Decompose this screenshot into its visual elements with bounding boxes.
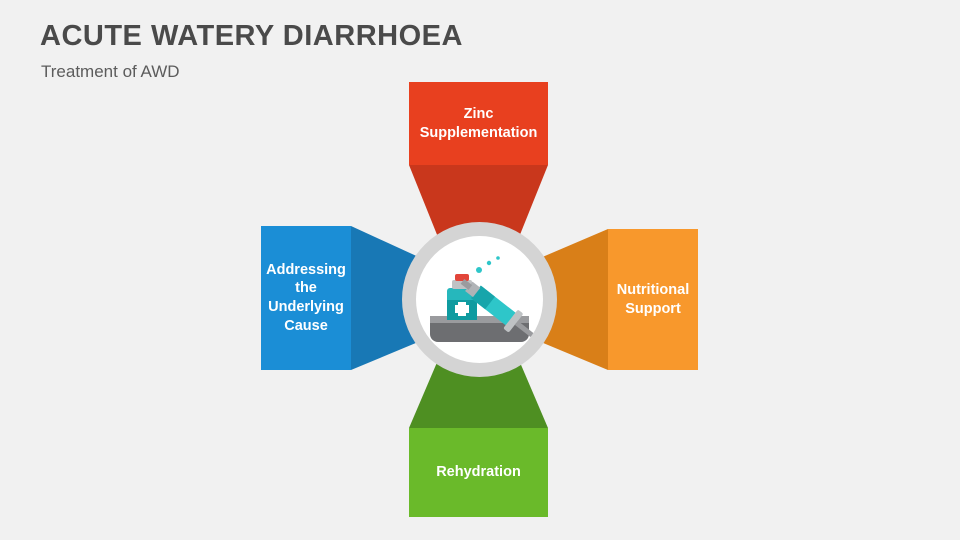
node-zinc-label: Zinc Supplementation [415, 105, 542, 142]
node-rehydration-label: Rehydration [436, 463, 521, 482]
node-zinc[interactable]: Zinc Supplementation [409, 82, 548, 165]
node-addressing[interactable]: Addressing the Underlying Cause [261, 226, 351, 370]
radial-diagram: Zinc Supplementation Nutritional Support… [0, 0, 960, 540]
slide-canvas: ACUTE WATERY DIARRHOEA Treatment of AWD … [0, 0, 960, 540]
vaccine-syringe-vial-icon [416, 236, 543, 363]
node-addressing-label: Addressing the Underlying Cause [266, 261, 346, 335]
node-nutrition-label: Nutritional Support [614, 281, 692, 318]
node-rehydration[interactable]: Rehydration [409, 428, 548, 517]
center-circle-inner [416, 236, 543, 363]
center-circle [402, 222, 557, 377]
node-nutrition[interactable]: Nutritional Support [608, 229, 698, 370]
